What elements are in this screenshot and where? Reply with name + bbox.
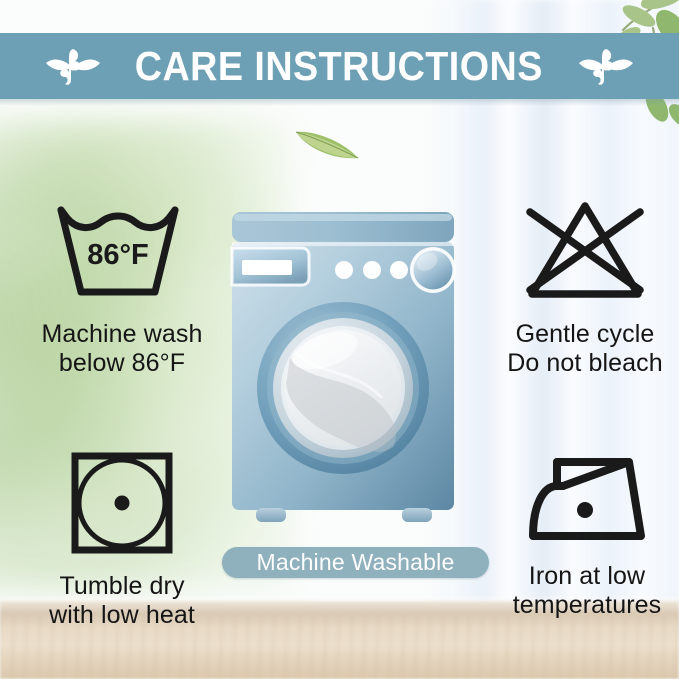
care-label-iron: Iron at low temperatures bbox=[513, 562, 662, 620]
washing-machine-illustration bbox=[230, 208, 456, 538]
control-dot bbox=[363, 261, 381, 279]
care-label-tumble-dry: Tumble dry with low heat bbox=[49, 572, 195, 630]
iron-one-dot-icon bbox=[517, 448, 657, 553]
triangle-crossed-out-icon bbox=[510, 196, 660, 311]
control-dot bbox=[335, 261, 353, 279]
floating-leaf-icon bbox=[292, 124, 362, 164]
wash-tub-icon: 86°F bbox=[47, 196, 197, 311]
care-item-gentle-cycle: Gentle cycle Do not bleach bbox=[492, 196, 678, 378]
banner-shadow bbox=[0, 99, 679, 106]
banner: CARE INSTRUCTIONS bbox=[0, 33, 679, 99]
care-label-machine-wash: Machine wash below 86°F bbox=[41, 320, 202, 378]
control-dot bbox=[390, 261, 408, 279]
page-title: CARE INSTRUCTIONS bbox=[134, 46, 542, 87]
fleur-de-lis-icon-right bbox=[578, 44, 634, 88]
care-instructions-graphic: CARE INSTRUCTIONS 86°F Machine wash belo… bbox=[0, 0, 679, 679]
badge-label: Machine Washable bbox=[257, 551, 455, 574]
fleur-de-lis-icon-left bbox=[45, 44, 101, 88]
care-label-gentle-cycle: Gentle cycle Do not bleach bbox=[507, 320, 663, 378]
care-item-iron-low: Iron at low temperatures bbox=[496, 448, 678, 620]
wash-temperature-value: 86°F bbox=[87, 239, 149, 271]
status-badge-machine-washable: Machine Washable bbox=[222, 547, 489, 578]
tumble-dry-low-icon bbox=[67, 448, 177, 563]
care-item-tumble-dry: Tumble dry with low heat bbox=[22, 448, 222, 630]
care-item-machine-wash: 86°F Machine wash below 86°F bbox=[22, 196, 222, 378]
